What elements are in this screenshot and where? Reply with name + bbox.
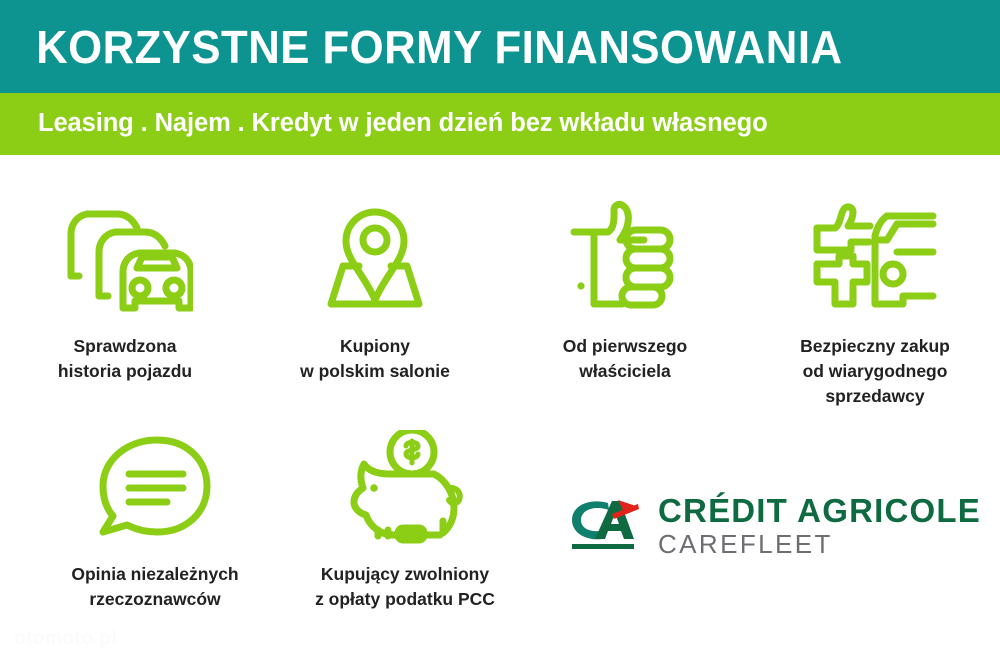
speech-bubble-icon <box>95 424 215 544</box>
logo-sub-text: CAREFLEET <box>658 531 981 558</box>
feature-row-bottom: Opinia niezależnych rzeczoznawców <box>0 424 560 612</box>
feature-label: Kupiony w polskim salonie <box>300 334 450 384</box>
logo-wordmarks: CRÉDIT AGRICOLE CAREFLEET <box>658 494 981 558</box>
feature-pcc-tax-exempt: Kupujący zwolniony z opłaty podatku PCC <box>280 424 530 612</box>
headline-text: KORZYSTNE FORMY FINANSOWANIA <box>0 24 842 70</box>
feature-label: Opinia niezależnych rzeczoznawców <box>71 562 238 612</box>
stacked-cars-icon <box>57 196 193 316</box>
feature-label: Sprawdzona historia pojazdu <box>58 334 192 384</box>
feature-row-top: Sprawdzona historia pojazdu Kupiony w po… <box>0 196 1000 409</box>
feature-polish-dealership: Kupiony w polskim salonie <box>250 196 500 409</box>
promo-banner: KORZYSTNE FORMY FINANSOWANIA Leasing . N… <box>0 0 1000 654</box>
subline-band: Leasing . Najem . Kredyt w jeden dzień b… <box>0 93 1000 155</box>
feature-label: Kupujący zwolniony z opłaty podatku PCC <box>315 562 495 612</box>
piggy-bank-icon <box>340 424 470 544</box>
credit-agricole-ca-monogram-icon <box>568 496 642 557</box>
map-pin-icon <box>315 196 435 316</box>
logo-brand-text: CRÉDIT AGRICOLE <box>658 494 981 528</box>
feature-label: Bezpieczny zakup od wiarygodnego sprzeda… <box>800 334 950 409</box>
thumbs-rating-car-icon <box>809 196 941 316</box>
thumbs-up-icon <box>564 196 686 316</box>
watermark: otomoto.pl <box>14 628 117 650</box>
feature-first-owner: Od pierwszego właściciela <box>500 196 750 409</box>
feature-independent-opinion: Opinia niezależnych rzeczoznawców <box>30 424 280 612</box>
feature-trusted-seller: Bezpieczny zakup od wiarygodnego sprzeda… <box>750 196 1000 409</box>
subline-text: Leasing . Najem . Kredyt w jeden dzień b… <box>0 111 768 137</box>
feature-vehicle-history: Sprawdzona historia pojazdu <box>0 196 250 409</box>
feature-label: Od pierwszego właściciela <box>563 334 687 384</box>
credit-agricole-carefleet-logo: CRÉDIT AGRICOLE CAREFLEET <box>568 494 981 558</box>
headline-band: KORZYSTNE FORMY FINANSOWANIA <box>0 0 1000 93</box>
